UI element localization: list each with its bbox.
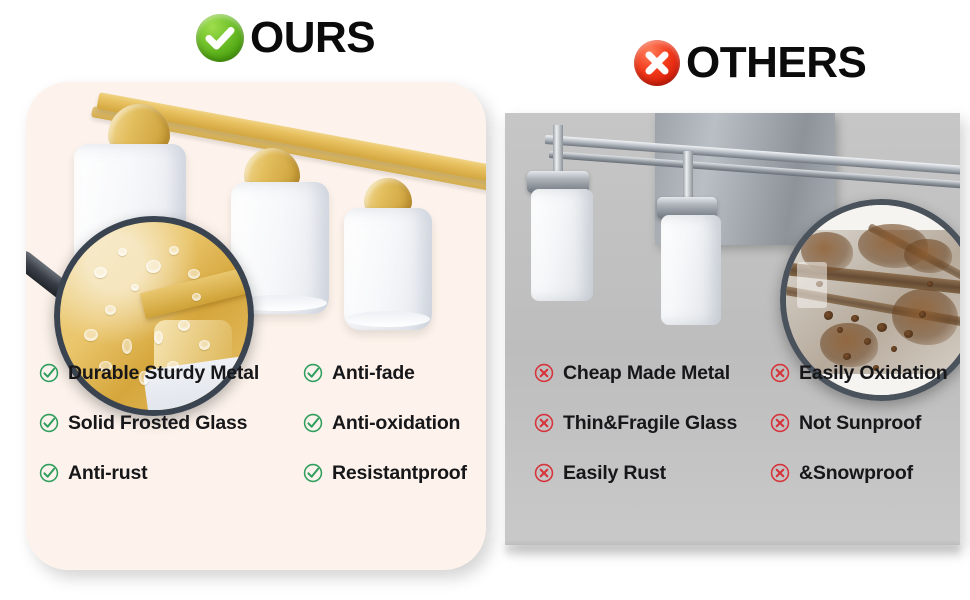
- feature-item: Not Sunproof: [769, 408, 953, 438]
- feature-item: Anti-oxidation: [302, 408, 488, 438]
- feature-item: Anti-rust: [38, 458, 296, 488]
- lamp-stem: [553, 125, 563, 177]
- lamp-stem: [683, 151, 693, 203]
- feature-list-others: Cheap Made Metal Easily Oxidation Thin&F…: [533, 358, 953, 488]
- feature-label: Solid Frosted Glass: [68, 412, 247, 435]
- cross-circle-icon: [533, 412, 555, 434]
- header-others-label: OTHERS: [686, 41, 866, 85]
- feature-label: Easily Oxidation: [799, 362, 948, 385]
- feature-item: Solid Frosted Glass: [38, 408, 296, 438]
- check-circle-icon: [196, 14, 244, 62]
- cross-circle-icon: [533, 362, 555, 384]
- check-circle-icon: [302, 462, 324, 484]
- check-circle-icon: [38, 412, 60, 434]
- feature-item: &Snowproof: [769, 458, 953, 488]
- header-others: OTHERS: [634, 40, 866, 86]
- cross-circle-icon: [769, 412, 791, 434]
- feature-list-ours: Durable Sturdy Metal Anti-fade Solid Fro…: [38, 358, 488, 488]
- magnified-bracket: [797, 262, 827, 308]
- feature-label: Not Sunproof: [799, 412, 921, 435]
- cross-circle-icon: [533, 462, 555, 484]
- feature-label: Durable Sturdy Metal: [68, 362, 259, 385]
- feature-item: Easily Rust: [533, 458, 763, 488]
- feature-label: Resistantproof: [332, 462, 467, 485]
- feature-label: Anti-oxidation: [332, 412, 460, 435]
- header-ours-label: OURS: [250, 16, 375, 60]
- feature-item: Durable Sturdy Metal: [38, 358, 296, 388]
- panel-ours: [26, 82, 486, 570]
- check-circle-icon: [38, 462, 60, 484]
- cross-circle-icon: [769, 462, 791, 484]
- glass-shade: [531, 189, 593, 301]
- feature-item: Resistantproof: [302, 458, 488, 488]
- feature-item: Easily Oxidation: [769, 358, 953, 388]
- feature-label: Easily Rust: [563, 462, 666, 485]
- feature-label: Cheap Made Metal: [563, 362, 730, 385]
- feature-label: Thin&Fragile Glass: [563, 412, 737, 435]
- feature-label: Anti-rust: [68, 462, 147, 485]
- feature-item: Cheap Made Metal: [533, 358, 763, 388]
- feature-item: Thin&Fragile Glass: [533, 408, 763, 438]
- cross-circle-icon: [634, 40, 680, 86]
- product-image-ours: [26, 82, 486, 570]
- feature-label: Anti-fade: [332, 362, 415, 385]
- check-circle-icon: [38, 362, 60, 384]
- check-circle-icon: [302, 412, 324, 434]
- frosted-glass-shade: [344, 208, 432, 330]
- feature-label: &Snowproof: [799, 462, 913, 485]
- feature-item: Anti-fade: [302, 358, 488, 388]
- glass-shade: [661, 215, 721, 325]
- cross-circle-icon: [769, 362, 791, 384]
- check-circle-icon: [302, 362, 324, 384]
- panel-others-shadow: [505, 545, 960, 559]
- header-ours: OURS: [196, 14, 375, 62]
